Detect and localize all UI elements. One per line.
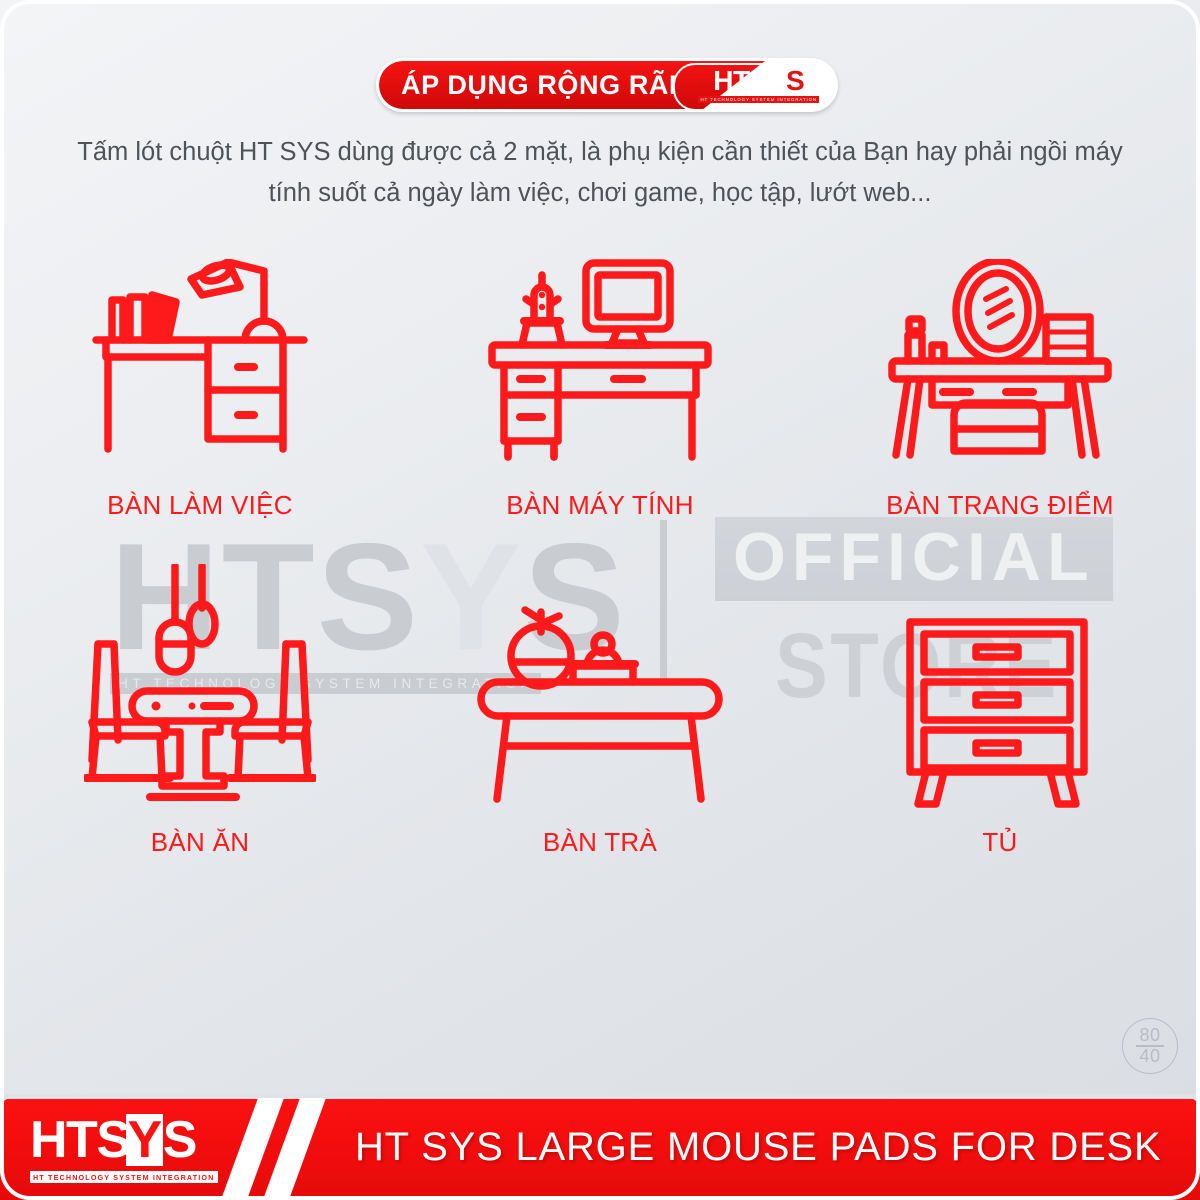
header-logo-y: Y: [768, 67, 786, 95]
footer-logo-hts: HTS: [30, 1114, 130, 1166]
size-badge-width: 80: [1139, 1027, 1160, 1044]
vanity-desk-icon-box: [888, 238, 1112, 464]
size-badge-height: 40: [1139, 1048, 1160, 1065]
footer-logo-y: Y: [126, 1114, 163, 1166]
work-desk-icon-box: [90, 238, 310, 464]
grid-item-computer-desk: BÀN MÁY TÍNH: [400, 238, 800, 521]
footer-logo-tagline: HT TECHNOLOGY SYSTEM INTEGRATION: [30, 1171, 218, 1183]
footer-logo-s: S: [163, 1114, 196, 1166]
cabinet-icon-box: [900, 559, 1100, 809]
grid-item-cabinet: TỦ: [800, 559, 1200, 858]
work-desk-icon: [90, 259, 310, 464]
footer-logo-text: HTSYS: [30, 1114, 196, 1166]
header-logo-s: S: [786, 67, 804, 95]
grid-item-work-desk: BÀN LÀM VIỆC: [0, 238, 400, 521]
grid-item-coffee-table: BÀN TRÀ: [400, 559, 800, 858]
furniture-row-1: BÀN LÀM VIỆC: [0, 238, 1200, 521]
footer-banner: HTSYS HT TECHNOLOGY SYSTEM INTEGRATION H…: [0, 1094, 1200, 1200]
footer-title: HT SYS LARGE MOUSE PADS FOR DESK: [355, 1094, 1162, 1200]
size-badge: 80 40: [1122, 1018, 1178, 1074]
computer-desk-icon-box: [486, 238, 714, 464]
grid-item-dining-table: BÀN ĂN: [0, 559, 400, 858]
dining-table-icon: [84, 564, 316, 809]
header-logo-hts: HTS: [713, 67, 768, 95]
grid-item-vanity-desk: BÀN TRANG ĐIỂM: [800, 238, 1200, 521]
dining-table-icon-box: [84, 559, 316, 809]
furniture-row-2: BÀN ĂN: [0, 559, 1200, 858]
caption-coffee-table: BÀN TRÀ: [543, 827, 657, 858]
coffee-table-icon-box: [475, 559, 725, 809]
caption-dining-table: BÀN ĂN: [151, 827, 250, 858]
header-badge-logo-text: HTSYS: [713, 67, 804, 95]
header-logo-tagline: HT TECHNOLOGY SYSTEM INTEGRATION: [698, 96, 819, 103]
caption-work-desk: BÀN LÀM VIỆC: [107, 490, 293, 521]
header-badge-label: ÁP DỤNG RỘNG RÃI: [401, 61, 677, 109]
computer-desk-icon: [486, 259, 714, 464]
header-badge: ÁP DỤNG RỘNG RÃI HTSYS HT TECHNOLOGY SYS…: [376, 58, 838, 112]
description-text: Tấm lót chuột HT SYS dùng được cả 2 mặt,…: [60, 132, 1140, 215]
coffee-table-icon: [475, 594, 725, 809]
caption-computer-desk: BÀN MÁY TÍNH: [506, 490, 694, 521]
cabinet-icon: [900, 604, 1100, 809]
caption-cabinet: TỦ: [982, 827, 1017, 858]
footer-logo: HTSYS HT TECHNOLOGY SYSTEM INTEGRATION: [30, 1114, 218, 1183]
header-badge-inner: ÁP DỤNG RỘNG RÃI HTSYS HT TECHNOLOGY SYS…: [379, 61, 835, 109]
header-badge-logo: HTSYS HT TECHNOLOGY SYSTEM INTEGRATION: [698, 67, 819, 103]
vanity-desk-icon: [888, 259, 1112, 464]
caption-vanity-desk: BÀN TRANG ĐIỂM: [886, 490, 1114, 521]
furniture-grid: BÀN LÀM VIỆC: [0, 238, 1200, 858]
poster-canvas: HTSYS HT TECHNOLOGY SYSTEM INTEGRATION O…: [0, 0, 1200, 1200]
